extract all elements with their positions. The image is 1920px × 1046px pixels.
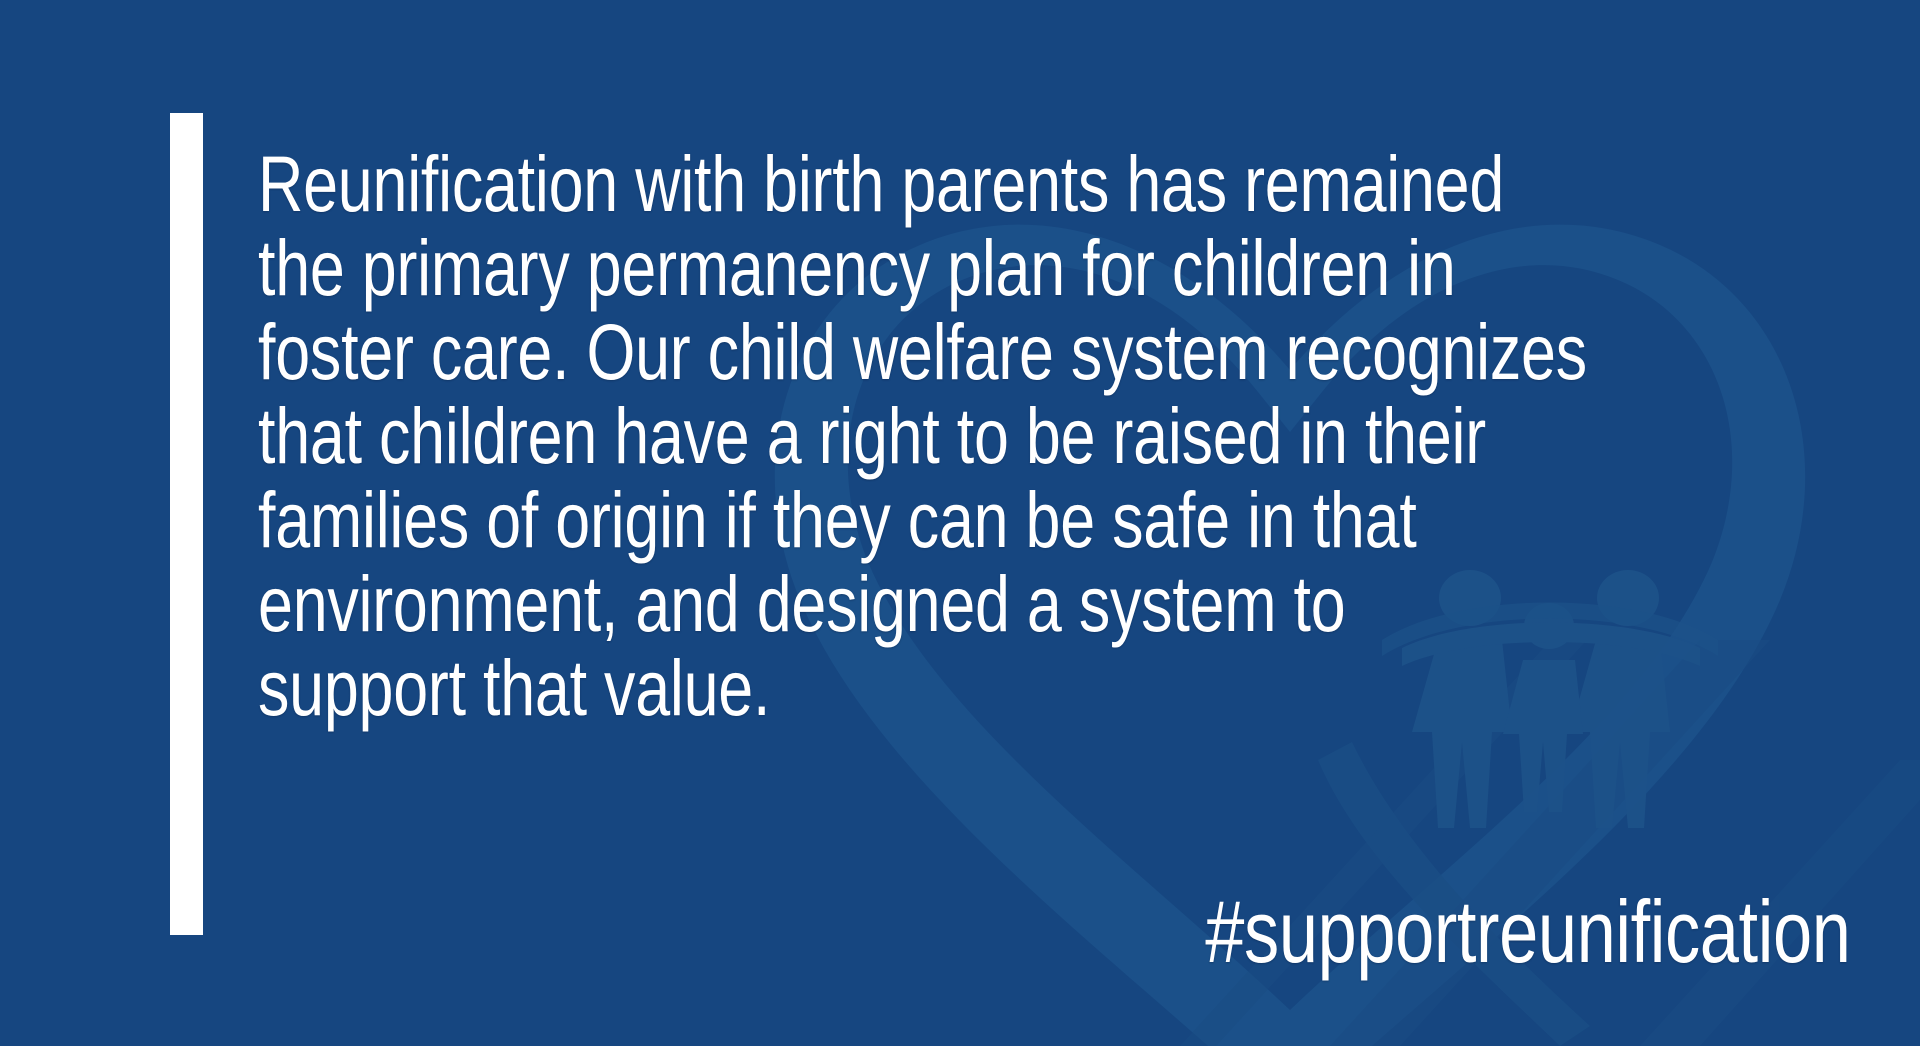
quote-line: the primary permanency plan for children… [258,226,1530,310]
quote-line: environment, and designed a system to [258,562,1530,646]
quote-line: support that value. [258,646,1530,730]
hashtag-row: #supportreunification [1044,884,1850,980]
quote-line: that children have a right to be raised … [258,394,1530,478]
quote-text: Reunification with birth parents has rem… [258,142,1858,730]
quote-line: Reunification with birth parents has rem… [258,142,1530,226]
quote-line: foster care. Our child welfare system re… [258,310,1530,394]
accent-bar [170,113,203,935]
quote-card: Reunification with birth parents has rem… [0,0,1920,1046]
hashtag-label: #supportreunification [1205,884,1850,980]
quote-line: families of origin if they can be safe i… [258,478,1530,562]
